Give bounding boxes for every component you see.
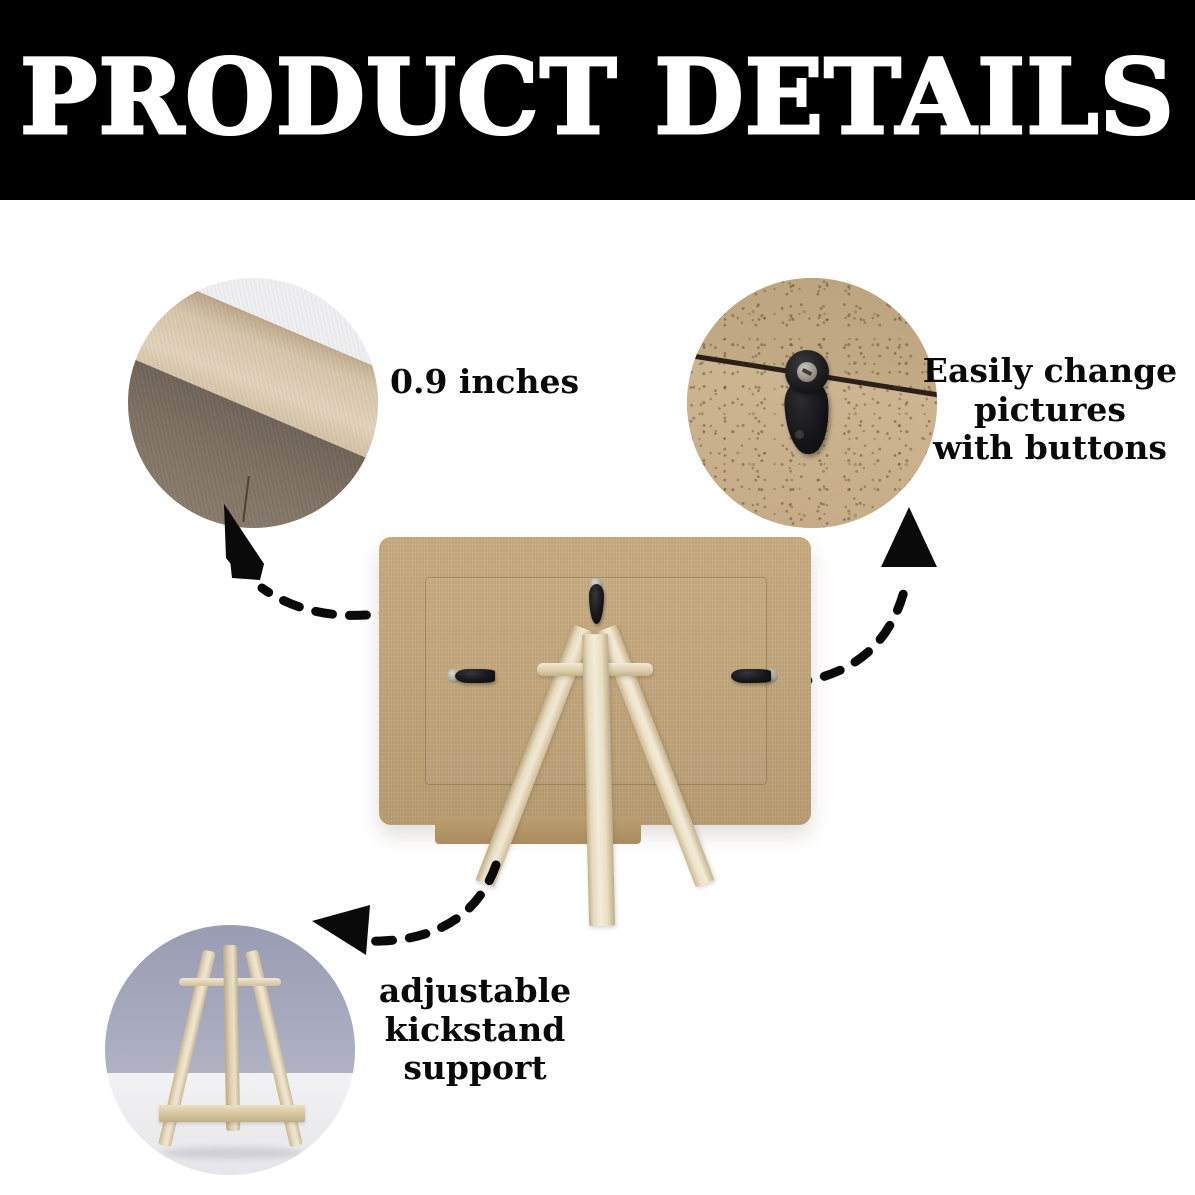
caption-line: adjustable	[340, 972, 610, 1011]
curved-dashed-arrow-icon-kickstand	[300, 855, 520, 975]
page-title: PRODUCT DETAILS	[0, 0, 1195, 200]
board-texture-overlay	[128, 278, 378, 528]
turn-button-top	[585, 578, 607, 624]
caption-line: 0.9 inches	[390, 363, 650, 402]
callout-photo-turn-button	[687, 278, 937, 528]
callout-caption-turn-button: Easily change pictures with buttons	[905, 352, 1195, 468]
turn-button-detail-dot	[795, 430, 804, 439]
caption-line: pictures	[905, 391, 1195, 430]
callout-caption-thickness: 0.9 inches	[390, 363, 650, 402]
caption-line: Easily change	[905, 352, 1195, 391]
turn-button-body	[731, 669, 771, 683]
easel-photo-shelf	[159, 1105, 305, 1122]
caption-line: support	[340, 1049, 610, 1088]
callout-caption-kickstand: adjustable kickstand support	[340, 972, 610, 1088]
turn-button-body	[589, 584, 604, 624]
callout-photo-thickness	[128, 278, 378, 528]
caption-line: with buttons	[905, 429, 1195, 468]
caption-line: kickstand	[340, 1011, 610, 1050]
product-details-infographic: PRODUCT DETAILS 0.9 inches Easily change…	[0, 0, 1195, 1195]
easel-leg-center	[582, 634, 615, 927]
turn-button-right	[729, 665, 779, 687]
easel-drop-shadow	[161, 1147, 303, 1159]
